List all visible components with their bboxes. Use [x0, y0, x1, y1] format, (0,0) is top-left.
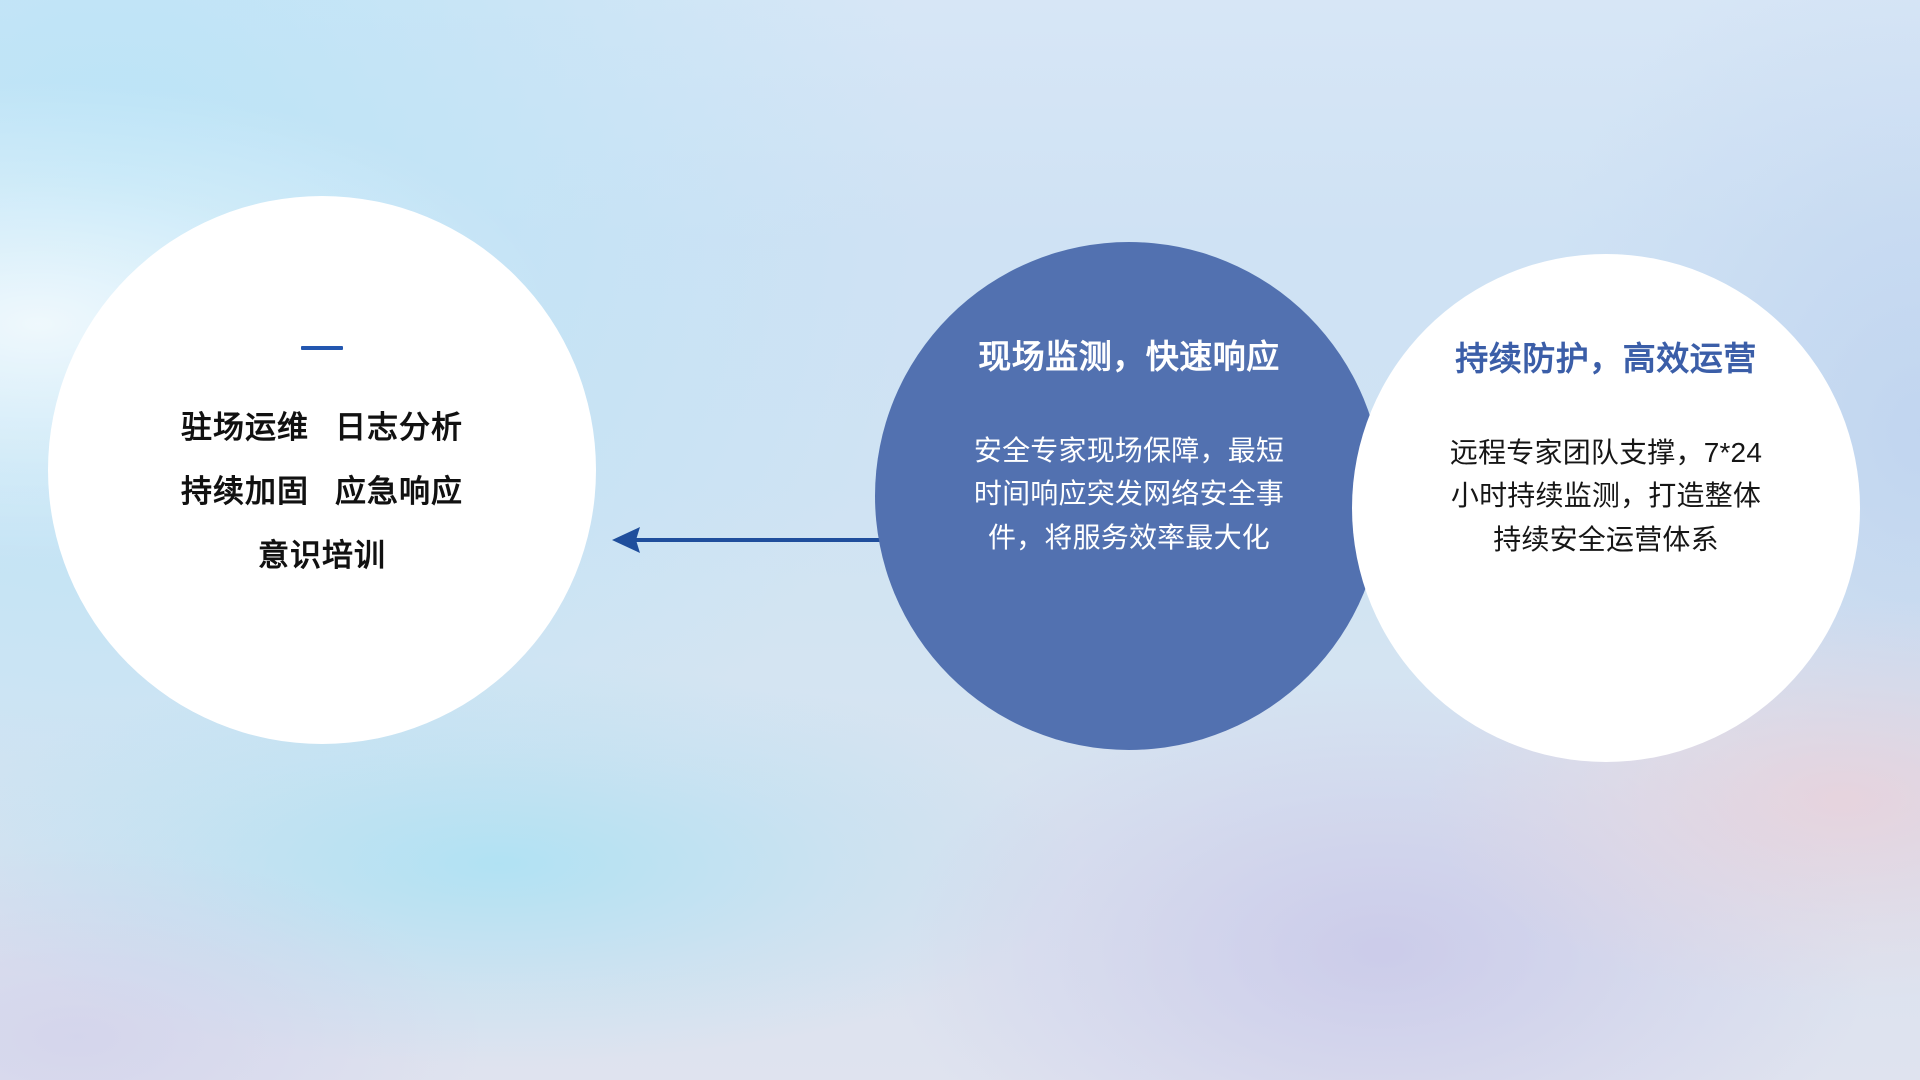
onsite-monitoring-title: 现场监测，快速响应: [978, 340, 1280, 373]
capability-item-5: 意识培训: [258, 538, 386, 573]
continuous-protection-circle[interactable]: 持续防护，高效运营 远程专家团队支撑，7*24小时持续监测，打造整体持续安全运营…: [1352, 254, 1860, 762]
capability-item-4: 应急响应: [335, 474, 463, 509]
continuous-protection-title: 持续防护，高效运营: [1455, 342, 1757, 375]
accent-rule-divider: [301, 346, 343, 350]
capability-item-2: 日志分析: [335, 410, 463, 445]
capability-row-2: 持续加固应急响应: [181, 476, 463, 507]
capabilities-circle[interactable]: 驻场运维日志分析 持续加固应急响应 意识培训: [48, 196, 596, 744]
onsite-monitoring-body: 安全专家现场保障，最短时间响应突发网络安全事件，将服务效率最大化: [964, 429, 1294, 559]
continuous-protection-body: 远程专家团队支撑，7*24小时持续监测，打造整体持续安全运营体系: [1441, 431, 1771, 561]
capability-row-1: 驻场运维日志分析: [181, 412, 463, 443]
capability-item-3: 持续加固: [181, 474, 309, 509]
connector-arrow-icon: [610, 520, 895, 560]
slide-canvas: 驻场运维日志分析 持续加固应急响应 意识培训 现场监测，快速响应 安全专家现场保…: [0, 0, 1920, 1080]
capability-list: 驻场运维日志分析 持续加固应急响应 意识培训: [181, 412, 463, 571]
capability-item-1: 驻场运维: [181, 410, 309, 445]
capability-row-3: 意识培训: [258, 540, 386, 571]
onsite-monitoring-circle[interactable]: 现场监测，快速响应 安全专家现场保障，最短时间响应突发网络安全事件，将服务效率最…: [875, 242, 1383, 750]
